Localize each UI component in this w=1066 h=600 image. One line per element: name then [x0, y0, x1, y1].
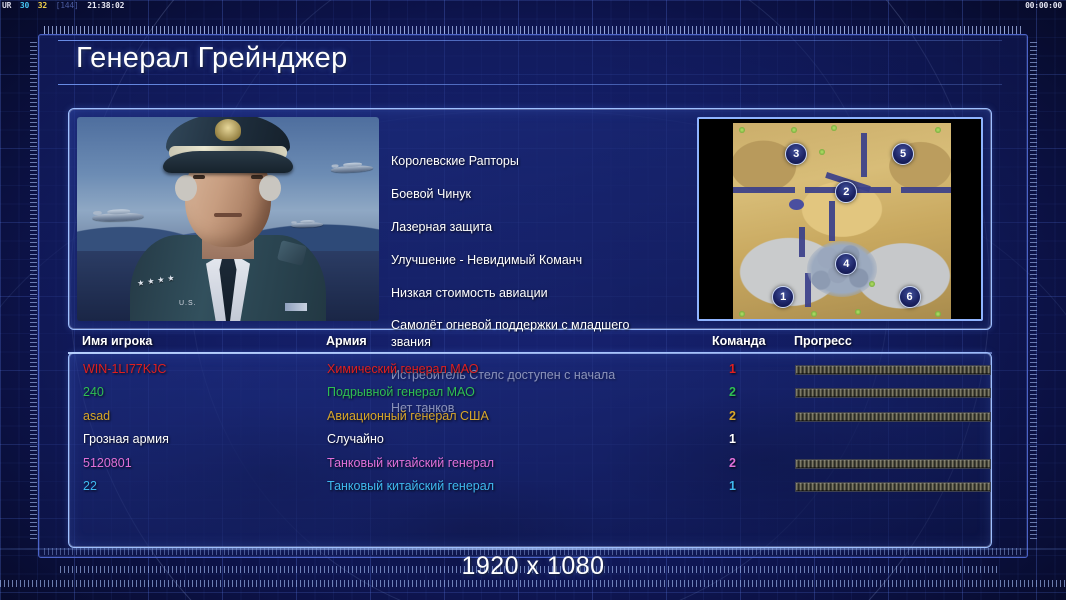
column-header-team: Команда: [712, 334, 766, 348]
start-position-marker[interactable]: 6: [899, 286, 921, 308]
start-position-marker[interactable]: 5: [892, 143, 914, 165]
title-divider-bottom: [58, 84, 1002, 85]
player-army: Танковый китайский генерал: [327, 456, 494, 470]
player-name: 240: [83, 385, 104, 399]
footer-divider: [0, 548, 1066, 550]
general-info-panel: ★★★★ U.S. Королевские Рапторы Боевой Чин…: [68, 108, 992, 330]
player-team: 1: [729, 479, 736, 493]
player-list-panel: WIN-1LI77KJCХимический генерал МАО1240По…: [68, 352, 992, 548]
us-insignia: U.S.: [179, 300, 197, 307]
ruler-tick-right: [1030, 42, 1037, 542]
table-header-divider: [68, 352, 992, 354]
title-divider-top: [58, 40, 1002, 41]
player-army: Авиационный генерал США: [327, 409, 489, 423]
player-name: 5120801: [83, 456, 132, 470]
player-progress-bar: [795, 365, 991, 375]
column-header-army: Армия: [326, 334, 367, 348]
hair-right: [259, 175, 281, 201]
ability-item: Лазерная защита: [391, 219, 695, 235]
debug-status-bar: UR 30 32 [144] 21:38:02 00:00:00: [0, 0, 1066, 12]
general-figure: ★★★★ U.S.: [123, 125, 333, 321]
player-name: Грозная армия: [83, 432, 169, 446]
status-clock: 21:38:02: [85, 0, 126, 12]
ability-item: Низкая стоимость авиации: [391, 285, 695, 301]
player-army: Химический генерал МАО: [327, 362, 478, 376]
table-row[interactable]: asadАвиационный генерал США2: [69, 406, 991, 429]
player-team: 1: [729, 362, 736, 376]
status-value-b: 32: [36, 0, 49, 12]
table-row[interactable]: Грозная армияСлучайно1: [69, 429, 991, 452]
military-cap-brim: [163, 151, 293, 173]
eye-left: [193, 175, 205, 179]
player-team: 1: [729, 432, 736, 446]
ruler-tick-left: [30, 42, 37, 542]
status-value-a: 30: [18, 0, 31, 12]
ruler-tick-edge: [0, 580, 1066, 587]
status-bracket: [144]: [54, 0, 81, 12]
ability-item: Королевские Рапторы: [391, 153, 695, 169]
player-progress-bar: [795, 482, 991, 492]
player-name: WIN-1LI77KJC: [83, 362, 166, 376]
eagle-insignia-icon: [215, 119, 241, 141]
start-position-marker[interactable]: 2: [835, 181, 857, 203]
game-lobby-screen: UR 30 32 [144] 21:38:02 00:00:00 Генерал…: [0, 0, 1066, 600]
table-row[interactable]: 5120801Танковый китайский генерал2: [69, 453, 991, 476]
table-row[interactable]: 22Танковый китайский генерал1: [69, 476, 991, 499]
map-water: [789, 199, 804, 210]
resolution-label: 1920 x 1080: [0, 552, 1066, 581]
table-row[interactable]: WIN-1LI77KJCХимический генерал МАО1: [69, 359, 991, 382]
player-progress-bar: [795, 388, 991, 398]
mouth: [214, 213, 242, 217]
start-position-marker[interactable]: 1: [772, 286, 794, 308]
player-army: Подрывной генерал МАО: [327, 385, 475, 399]
map-preview[interactable]: 3 5 2 4 1 6: [697, 117, 983, 321]
page-title: Генерал Грейнджер: [76, 42, 348, 75]
player-rows: WIN-1LI77KJCХимический генерал МАО1240По…: [69, 359, 991, 499]
table-row[interactable]: 240Подрывной генерал МАО2: [69, 382, 991, 405]
status-prefix: UR: [0, 0, 13, 12]
player-army: Танковый китайский генерал: [327, 479, 494, 493]
general-portrait: ★★★★ U.S.: [77, 117, 379, 321]
column-header-player-name: Имя игрока: [82, 334, 152, 348]
player-team: 2: [729, 456, 736, 470]
player-team: 2: [729, 409, 736, 423]
player-name: 22: [83, 479, 97, 493]
ability-item: Боевой Чинук: [391, 186, 695, 202]
start-position-marker[interactable]: 3: [785, 143, 807, 165]
player-progress-bar: [795, 412, 991, 422]
eye-right: [251, 175, 263, 179]
map-terrain: 3 5 2 4 1 6: [733, 123, 951, 319]
title-band: Генерал Грейнджер: [48, 40, 1018, 86]
player-team: 2: [729, 385, 736, 399]
player-progress-bar: [795, 459, 991, 469]
service-ribbon: [285, 303, 307, 311]
ability-item: Улучшение - Невидимый Команч: [391, 252, 695, 268]
player-name: asad: [83, 409, 110, 423]
player-table-headers: Имя игрока Армия Команда Прогресс: [68, 334, 992, 354]
column-header-progress: Прогресс: [794, 334, 852, 348]
mission-timer: 00:00:00: [1025, 0, 1062, 12]
player-army: Случайно: [327, 432, 384, 446]
